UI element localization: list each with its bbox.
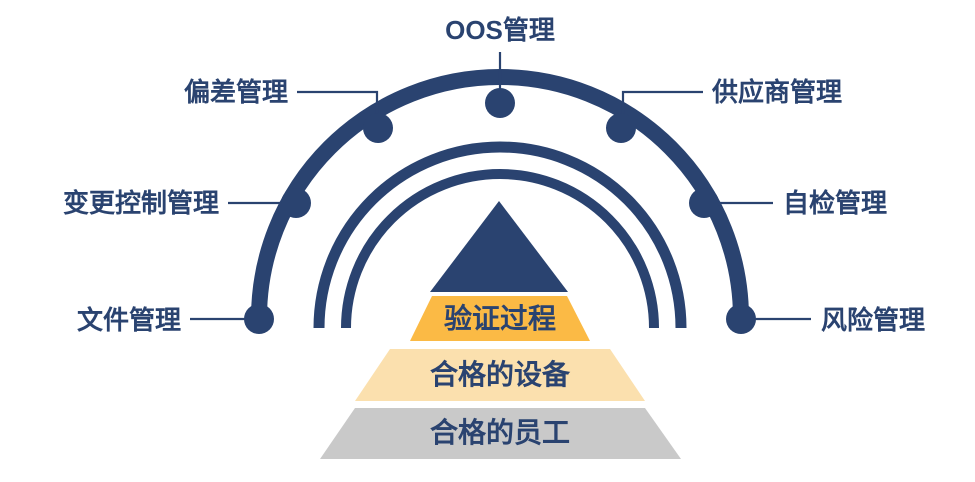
node-document-icon[interactable] — [244, 304, 274, 334]
label-risk: 风险管理 — [821, 307, 925, 333]
pyramid-tier-3-label: 合格的员工 — [430, 419, 570, 447]
label-self-inspection: 自检管理 — [783, 190, 887, 216]
diagram-svg — [0, 0, 975, 482]
pyramid-apex — [430, 201, 568, 292]
node-oos-icon[interactable] — [485, 88, 515, 118]
node-change-icon[interactable] — [281, 188, 311, 218]
label-document: 文件管理 — [77, 307, 181, 333]
node-risk-icon[interactable] — [726, 304, 756, 334]
label-supplier: 供应商管理 — [712, 79, 842, 105]
pyramid-tier-1-label: 验证过程 — [444, 305, 556, 333]
pyramid-tier-2-label: 合格的设备 — [430, 361, 570, 389]
label-oos: OOS管理 — [445, 17, 555, 43]
diagram-canvas — [0, 0, 975, 482]
label-change-control: 变更控制管理 — [63, 190, 219, 216]
node-audit-icon[interactable] — [689, 188, 719, 218]
node-supplier-icon[interactable] — [606, 113, 636, 143]
label-deviation: 偏差管理 — [184, 79, 288, 105]
node-deviation-icon[interactable] — [363, 113, 393, 143]
